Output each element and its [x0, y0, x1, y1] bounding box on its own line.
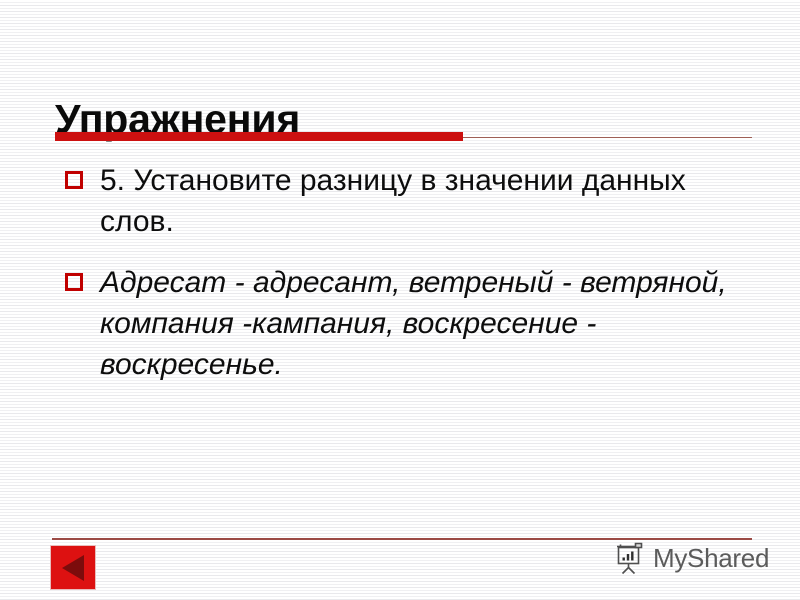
list-item: Адресат - адресант, ветреный - ветряной,…: [56, 262, 746, 385]
triangle-left-icon: [62, 555, 84, 581]
presentation-chart-icon: [613, 541, 647, 575]
slide-canvas: Упражнения 5. Установите разницу в значе…: [0, 0, 800, 600]
title-underline-accent: [55, 132, 463, 141]
square-bullet-icon: [65, 171, 83, 189]
back-button[interactable]: [50, 545, 96, 590]
square-bullet-icon: [65, 273, 83, 291]
brand-name: MyShared: [653, 545, 769, 571]
list-item-text: 5. Установите разницу в значении данных …: [100, 160, 746, 242]
list-item-text: Адресат - адресант, ветреный - ветряной,…: [100, 262, 746, 385]
brand-logo[interactable]: MyShared: [613, 538, 769, 578]
list-item: 5. Установите разницу в значении данных …: [56, 160, 746, 242]
bullet-list: 5. Установите разницу в значении данных …: [56, 160, 746, 405]
